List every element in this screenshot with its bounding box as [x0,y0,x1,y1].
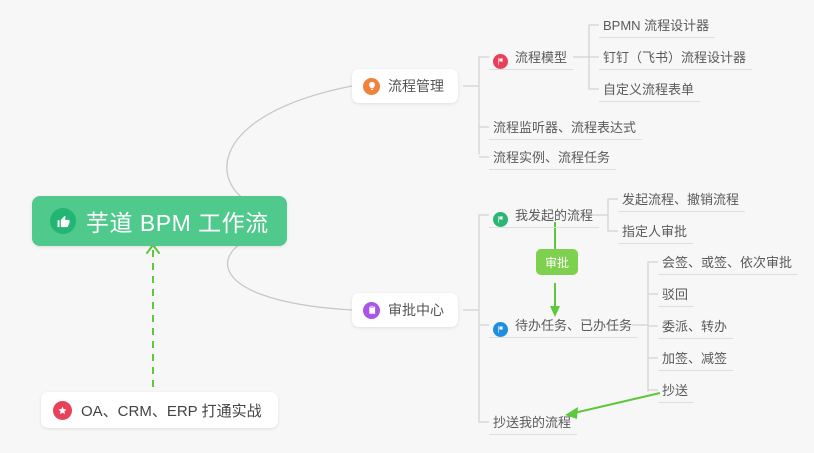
edge-pm-corner-top [479,57,485,63]
arrowhead-note-to-root [147,245,159,253]
root-node[interactable]: 芋道 BPM 工作流 [32,196,287,246]
thumbs-up-icon [50,208,76,234]
note-label: OA、CRM、ERP 打通实战 [81,400,262,421]
node-process-model[interactable]: 流程模型 [489,44,573,70]
node-label: 委派、转办 [662,316,727,338]
node-label: 抄送我的流程 [493,412,571,434]
edge-root-to-process-management [227,86,352,210]
mindmap-canvas: 芋道 BPM 工作流 流程管理 流程模型 BPMN 流程设计器 钉钉（飞书）流程… [0,0,814,453]
edge-todo-trunk [639,262,648,391]
node-reject[interactable]: 驳回 [658,281,694,307]
node-label: 加签、减签 [662,348,727,370]
note-integration[interactable]: OA、CRM、ERP 打通实战 [41,392,278,428]
node-label: 我发起的流程 [515,205,593,227]
tag-approval[interactable]: 审批 [536,249,578,275]
clipboard-icon [363,302,380,319]
node-cc-my-process[interactable]: 抄送我的流程 [489,409,577,435]
node-launch-cancel-process[interactable]: 发起流程、撤销流程 [618,186,745,212]
edge-model-trunk [580,25,589,89]
flag-icon [493,322,508,337]
node-todo-done-tasks[interactable]: 待办任务、已办任务 [489,312,638,338]
node-process-listener[interactable]: 流程监听器、流程表达式 [489,114,642,140]
flag-icon [493,212,508,227]
node-delegate-transfer[interactable]: 委派、转办 [658,313,733,339]
root-label: 芋道 BPM 工作流 [86,204,269,238]
node-cc[interactable]: 抄送 [658,377,694,403]
node-dingtalk-designer[interactable]: 钉钉（飞书）流程设计器 [599,44,752,70]
node-label: 流程实例、流程任务 [493,147,610,169]
node-label: 指定人审批 [622,221,687,243]
node-label: 发起流程、撤销流程 [622,189,739,211]
node-label: BPMN 流程设计器 [603,15,709,37]
node-assigned-approver[interactable]: 指定人审批 [618,218,693,244]
star-icon [53,401,72,420]
branch-approval-center[interactable]: 审批中心 [352,293,458,327]
node-label: 驳回 [662,284,688,306]
node-countersign[interactable]: 会签、或签、依次审批 [658,249,798,275]
branch-process-management[interactable]: 流程管理 [352,69,458,103]
node-label: 钉钉（飞书）流程设计器 [603,47,746,69]
edge-pm-trunk [470,57,479,154]
node-label: 流程监听器、流程表达式 [493,117,636,139]
node-label: 会签、或签、依次审批 [662,252,792,274]
lightbulb-icon [363,78,380,95]
node-custom-form[interactable]: 自定义流程表单 [599,76,700,102]
node-label: 待办任务、已办任务 [515,315,632,337]
edge-mystart-trunk [599,199,608,231]
edge-ac-trunk [470,215,479,422]
arrow-ccnode-to-ccprocess [574,393,660,413]
node-label: 流程模型 [515,47,567,69]
tag-label: 审批 [545,254,569,271]
node-my-started-process[interactable]: 我发起的流程 [489,202,599,228]
branch-label: 审批中心 [388,300,444,320]
node-label: 自定义流程表单 [603,79,694,101]
flag-icon [493,54,508,69]
branch-label: 流程管理 [388,76,444,96]
node-add-remove-sign[interactable]: 加签、减签 [658,345,733,371]
node-process-instance[interactable]: 流程实例、流程任务 [489,144,616,170]
node-label: 抄送 [662,380,688,402]
node-bpmn-designer[interactable]: BPMN 流程设计器 [599,12,715,38]
